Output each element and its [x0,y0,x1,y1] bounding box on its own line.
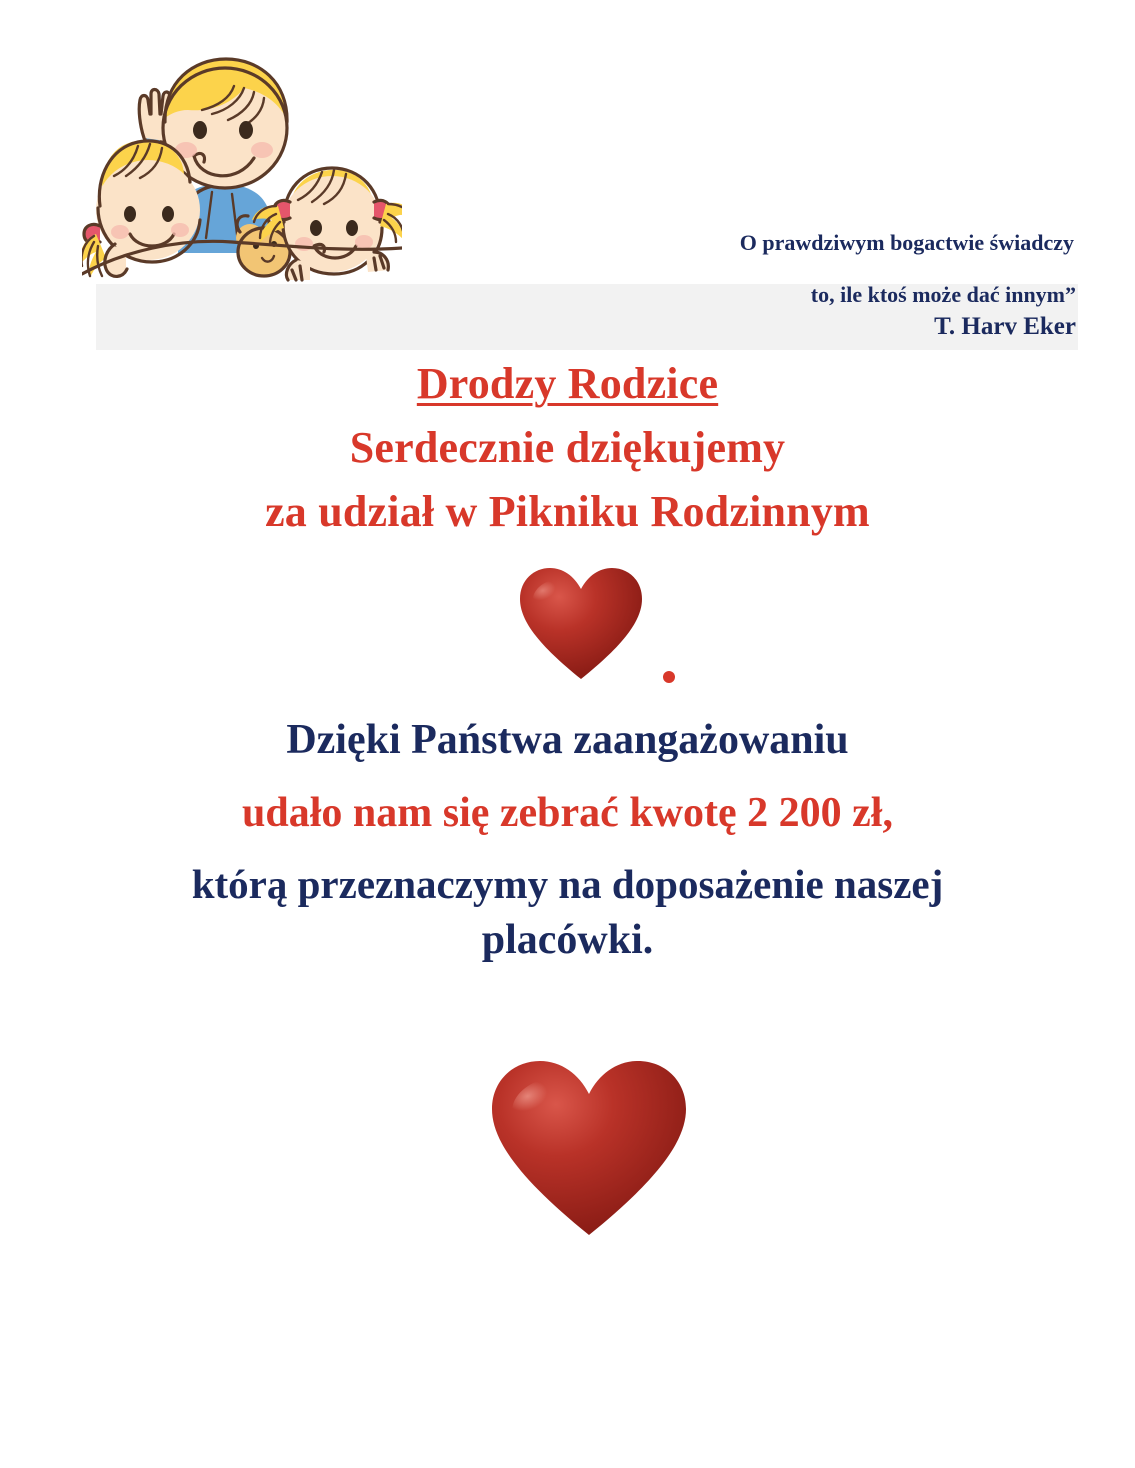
headline-group: Drodzy Rodzice Serdecznie dziękujemy za … [0,355,1135,541]
body-line-1: Dzięki Państwa zaangażowaniu [0,713,1135,768]
quote-line-1: O prawdziwym bogactwie świadczy [0,232,1080,254]
body-line-2-amount: udało nam się zebrać kwotę 2 200 zł, [0,786,1135,841]
body-line-4: placówki. [0,913,1135,968]
quote-line-2: to, ile ktoś może dać innym” [0,284,1080,306]
quote-block: O prawdziwym bogactwie świadczy to, ile … [0,232,1080,339]
body-line-3: którą przeznaczymy na doposażenie naszej [0,858,1135,911]
heart-big [487,1057,691,1242]
quote-author: T. Harv Eker [0,314,1080,339]
body-text-block: Dzięki Państwa zaangażowaniu udało nam s… [0,713,1135,968]
poster-page: .ln { fill:none; stroke:#5a3a28; stroke-… [0,0,1135,1468]
thanks-heading-line-1: Serdecznie dziękujemy [0,419,1135,477]
heart-small [516,565,646,685]
period-after-heart [663,671,675,683]
greeting-heading: Drodzy Rodzice [0,355,1135,413]
thanks-heading-line-2: za udział w Pikniku Rodzinnym [0,483,1135,541]
